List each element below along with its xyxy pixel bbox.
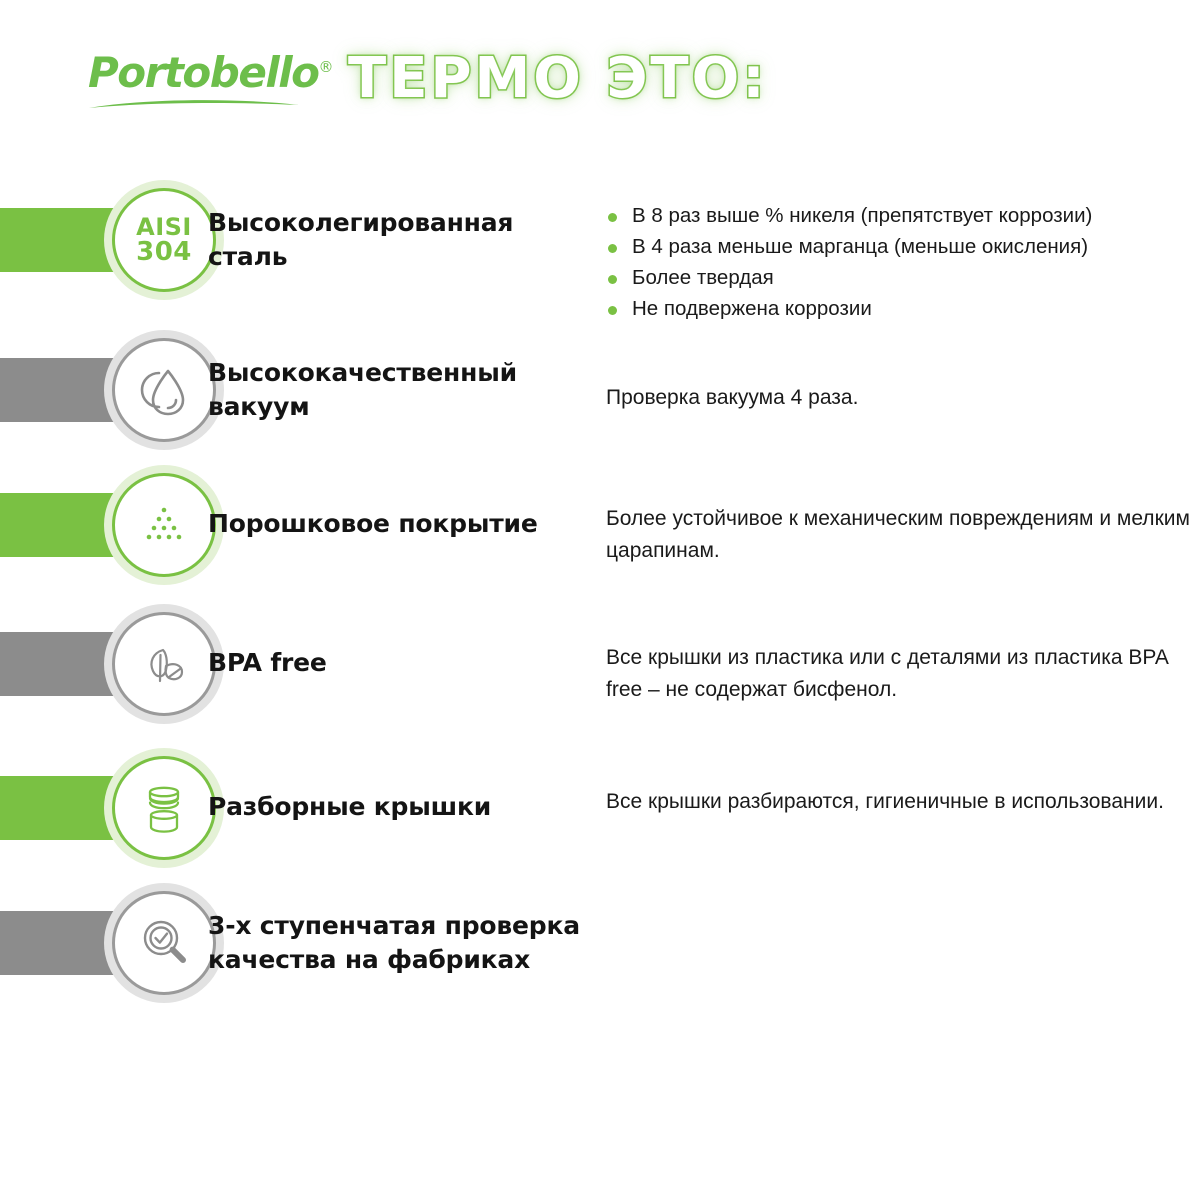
list-item: Не подвержена коррозии: [606, 293, 1196, 324]
feature-list: AISI 304 Высоколегированная сталь В 8 ра…: [0, 0, 1200, 1200]
badge-core: [112, 612, 216, 716]
row-body: Все крышки из пластика или с деталями из…: [606, 642, 1196, 706]
row-badge: [104, 465, 224, 585]
row-description: Все крышки из пластика или с деталями из…: [606, 642, 1196, 706]
row-body: Более устойчивое к механическим поврежде…: [606, 503, 1196, 567]
row-heading: 3-х ступенчатая проверка качества на фаб…: [208, 909, 628, 977]
list-item: В 4 раза меньше марганца (меньше окислен…: [606, 231, 1196, 262]
leaf-icon: [133, 633, 195, 695]
row-description: Проверка вакуума 4 раза.: [606, 382, 1196, 414]
water-droplet-icon: [133, 359, 195, 421]
row-body: В 8 раз выше % никеля (препятствует корр…: [606, 200, 1196, 324]
badge-core: [112, 338, 216, 442]
lid-icon: [132, 776, 196, 840]
powder-dots-icon: [133, 494, 195, 556]
magnifier-check-icon: [132, 911, 196, 975]
badge-core: AISI 304: [112, 188, 216, 292]
list-item: В 8 раз выше % никеля (препятствует корр…: [606, 200, 1196, 231]
row-heading: BPA free: [208, 646, 598, 680]
list-item: Более твердая: [606, 262, 1196, 293]
badge-core: [112, 891, 216, 995]
row-body: Все крышки разбираются, гигиеничные в ис…: [606, 786, 1196, 818]
row-heading: Высоколегированная сталь: [208, 206, 598, 274]
row-heading: Разборные крышки: [208, 790, 598, 824]
benefit-list: В 8 раз выше % никеля (препятствует корр…: [606, 200, 1196, 324]
row-description: Более устойчивое к механическим поврежде…: [606, 503, 1196, 567]
row-heading: Порошковое покрытие: [208, 507, 598, 541]
row-badge: [104, 748, 224, 868]
row-badge: [104, 883, 224, 1003]
badge-core: [112, 473, 216, 577]
aisi-304-badge-icon: AISI 304: [136, 215, 192, 266]
row-body: Проверка вакуума 4 раза.: [606, 382, 1196, 414]
row-badge: AISI 304: [104, 180, 224, 300]
row-badge: [104, 330, 224, 450]
aisi-grade: 304: [136, 239, 192, 266]
row-badge: [104, 604, 224, 724]
row-description: Все крышки разбираются, гигиеничные в ис…: [606, 786, 1196, 818]
aisi-label: AISI: [136, 215, 192, 239]
row-heading: Высококачественный вакуум: [208, 356, 598, 424]
badge-core: [112, 756, 216, 860]
